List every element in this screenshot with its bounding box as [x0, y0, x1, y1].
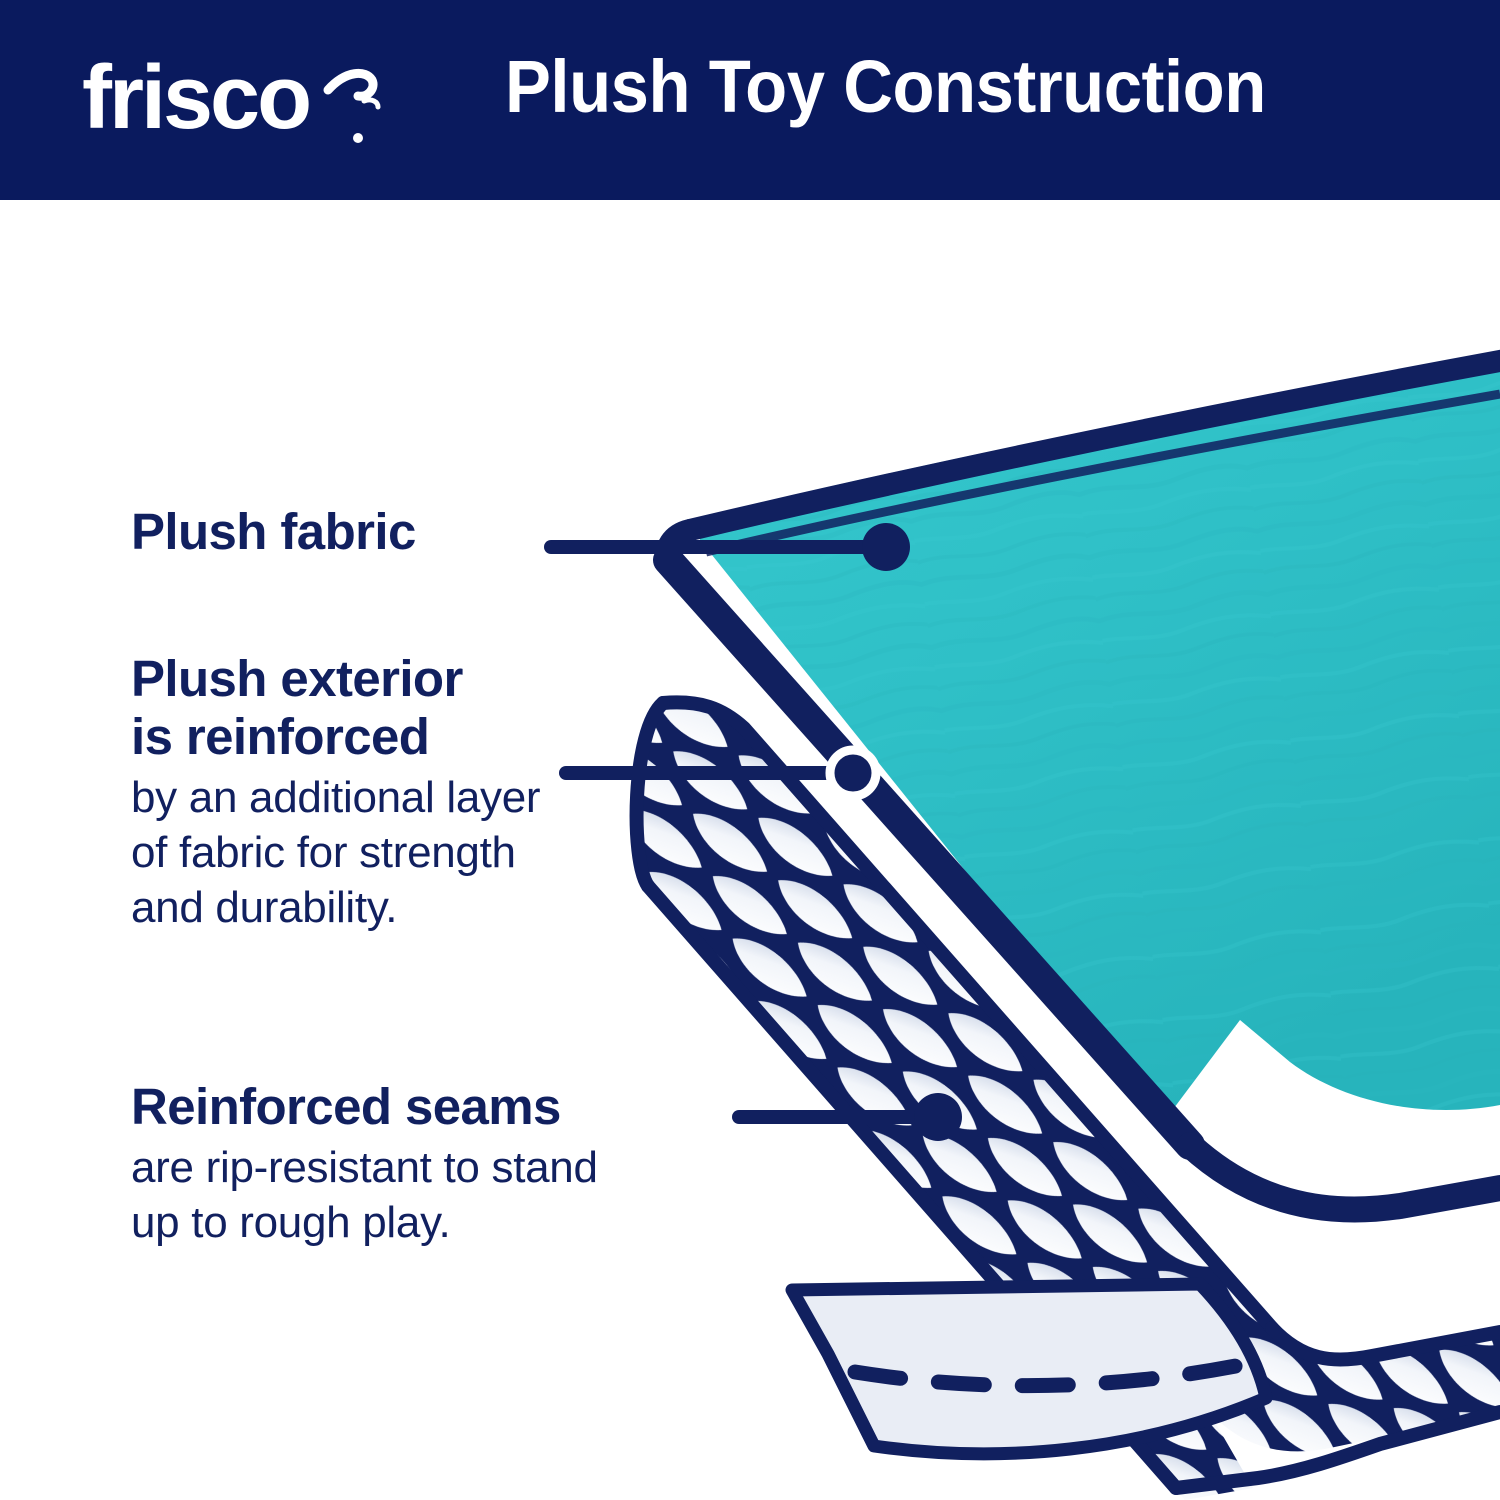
leader-dot-plush-fabric — [862, 523, 910, 571]
leader-dot-reinforced-seams — [914, 1093, 962, 1141]
callout-reinforced-seams-heading: Reinforced seams — [131, 1078, 598, 1136]
callout-plush-exterior-body: by an additional layer of fabric for str… — [131, 770, 540, 935]
frisco-logo: frisco — [82, 52, 382, 152]
callout-plush-exterior: Plush exterior is reinforced by an addit… — [131, 650, 540, 935]
page-title: Plush Toy Construction — [505, 48, 1266, 126]
leader-ring-plush-exterior — [830, 750, 876, 796]
frisco-wordmark: frisco — [82, 52, 309, 148]
header-bar: frisco Plush Toy Construction — [0, 0, 1500, 200]
logo-tail-swoosh — [328, 73, 373, 96]
logo-tail-flick — [364, 100, 378, 107]
registered-mark-icon — [353, 133, 363, 143]
callout-plush-exterior-heading: Plush exterior is reinforced — [131, 650, 540, 766]
callout-plush-fabric-heading: Plush fabric — [131, 503, 416, 561]
callout-reinforced-seams: Reinforced seams are rip-resistant to st… — [131, 1078, 598, 1250]
infographic-page: frisco Plush Toy Construction — [0, 0, 1500, 1500]
seam-flap-layer — [792, 1284, 1266, 1454]
callout-reinforced-seams-body: are rip-resistant to stand up to rough p… — [131, 1140, 598, 1250]
callout-plush-fabric: Plush fabric — [131, 503, 416, 561]
